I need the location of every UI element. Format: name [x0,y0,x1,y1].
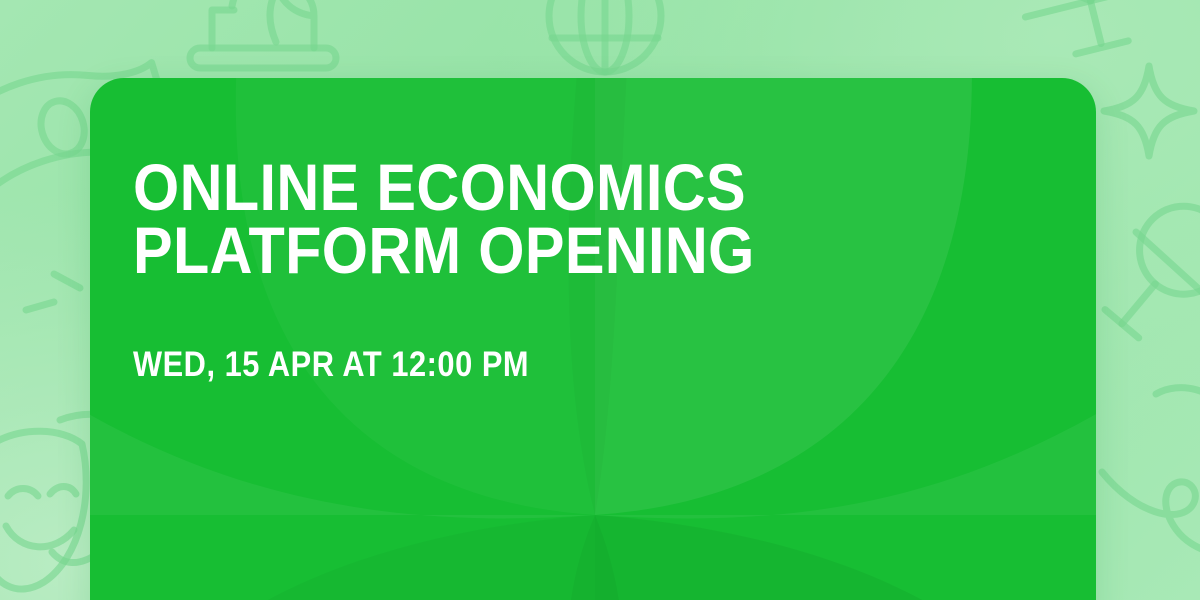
event-banner: Online Economics Platform Opening Wed, 1… [0,0,1200,600]
event-card: Online Economics Platform Opening Wed, 1… [90,78,1096,600]
swirl-line-icon [1096,388,1200,600]
sparkle-icon [1094,56,1200,166]
microphone-icon [1110,190,1200,380]
event-date-time: Wed, 15 Apr at 12:00 PM [133,347,899,382]
card-content: Online Economics Platform Opening Wed, 1… [133,156,1003,382]
event-title: Online Economics Platform Opening [133,156,916,283]
